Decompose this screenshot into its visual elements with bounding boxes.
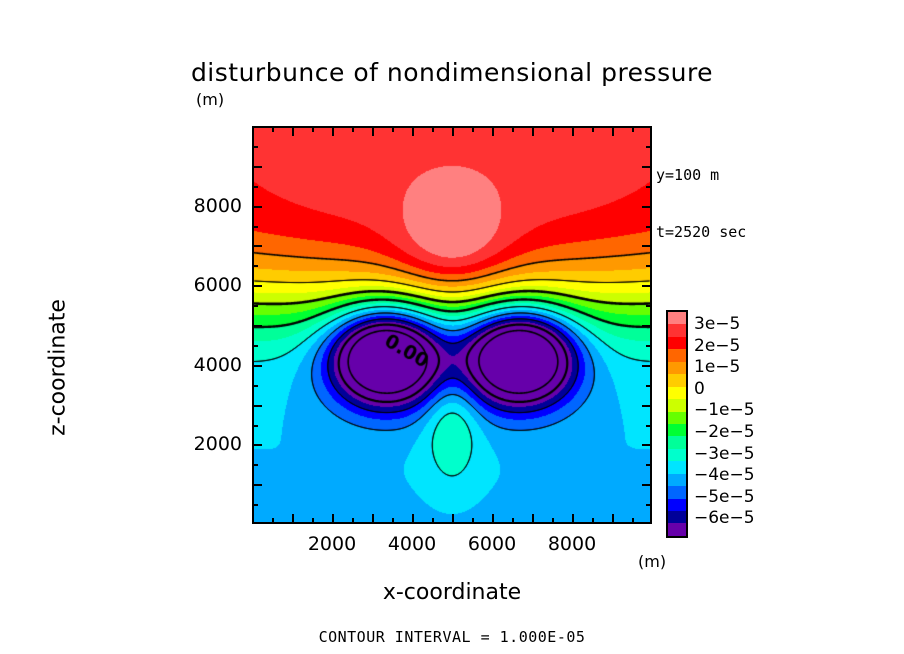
axis-tick (253, 405, 262, 407)
axis-tick (646, 265, 651, 267)
axis-tick (512, 518, 514, 523)
axis-tick (642, 484, 651, 486)
axis-tick (646, 226, 651, 228)
axis-tick (592, 518, 594, 523)
axis-tick (646, 464, 651, 466)
axis-tick (646, 504, 651, 506)
title-units-label: (m) (196, 90, 224, 109)
axis-tick (432, 127, 434, 132)
axis-tick (272, 127, 274, 132)
axis-tick (642, 405, 651, 407)
axis-tick (452, 127, 454, 136)
axis-tick (253, 325, 262, 327)
colorbar-tick-label: 3e−5 (694, 314, 740, 334)
axis-tick (642, 285, 651, 287)
axis-tick (612, 127, 614, 136)
axis-tick (253, 166, 262, 168)
axis-tick (642, 365, 651, 367)
axis-tick (646, 385, 651, 387)
axis-tick (572, 514, 574, 523)
colorbar-band (668, 486, 686, 498)
axis-tick (572, 127, 574, 136)
axis-tick (642, 444, 651, 446)
axis-tick (253, 245, 262, 247)
x-axis-label: x-coordinate (252, 580, 652, 605)
colorbar-band (668, 511, 686, 523)
axis-tick (412, 514, 414, 523)
colorbar-tick-label: −1e−5 (694, 400, 755, 420)
axis-tick (472, 127, 474, 132)
axis-tick (646, 345, 651, 347)
colorbar-band (668, 337, 686, 349)
colorbar-tick-label: −5e−5 (694, 487, 755, 507)
colorbar-band (668, 499, 686, 511)
axis-tick (253, 226, 258, 228)
axis-tick (632, 518, 634, 523)
axis-tick (552, 127, 554, 132)
axis-tick (312, 518, 314, 523)
axis-tick (312, 127, 314, 132)
axis-tick (646, 305, 651, 307)
annotation-line-t: t=2520 sec (656, 223, 746, 242)
axis-tick (253, 444, 262, 446)
axis-tick (432, 518, 434, 523)
axis-tick (253, 206, 262, 208)
axis-tick (253, 425, 258, 427)
annotation-line-y: y=100 m (656, 166, 746, 185)
y-tick-label: 8000 (160, 195, 242, 217)
colorbar-band (668, 362, 686, 374)
colorbar-band (668, 424, 686, 436)
axis-tick (352, 518, 354, 523)
y-tick-label: 4000 (160, 354, 242, 376)
plot-annotation: y=100 m t=2520 sec (656, 128, 746, 261)
axis-tick (292, 127, 294, 136)
axis-tick (492, 127, 494, 136)
axis-tick (472, 518, 474, 523)
colorbar-tick-label: 1e−5 (694, 357, 740, 377)
colorbar-band (668, 324, 686, 336)
x-tick-label: 2000 (308, 533, 356, 555)
colorbar-band (668, 399, 686, 411)
axis-tick (632, 127, 634, 132)
axis-tick (253, 365, 262, 367)
colorbar-tick-label: −4e−5 (694, 465, 755, 485)
axis-tick (392, 127, 394, 132)
axis-tick (452, 514, 454, 523)
axis-tick (253, 345, 258, 347)
contour-plot-area[interactable] (252, 126, 652, 524)
axis-tick (253, 265, 258, 267)
contour-interval-note: CONTOUR INTERVAL = 1.000E-05 (0, 628, 904, 646)
axis-tick (253, 464, 258, 466)
colorbar-band (668, 374, 686, 386)
colorbar-band (668, 387, 686, 399)
colorbar-tick-label: −6e−5 (694, 508, 755, 528)
axis-tick (253, 146, 258, 148)
colorbar-tick-label: −2e−5 (694, 422, 755, 442)
colorbar-band (668, 312, 686, 324)
axis-tick (372, 514, 374, 523)
axis-tick (512, 127, 514, 132)
axis-tick (642, 206, 651, 208)
y-tick-label: 6000 (160, 274, 242, 296)
page-title: disturbunce of nondimensional pressure (0, 58, 904, 87)
colorbar[interactable] (666, 310, 688, 538)
axis-tick (646, 146, 651, 148)
x-axis-units-label: (m) (638, 552, 666, 571)
colorbar-band (668, 449, 686, 461)
axis-tick (592, 127, 594, 132)
colorbar-band (668, 436, 686, 448)
colorbar-band (668, 349, 686, 361)
axis-tick (552, 518, 554, 523)
axis-tick (646, 186, 651, 188)
axis-tick (532, 514, 534, 523)
axis-tick (253, 484, 262, 486)
axis-tick (332, 127, 334, 136)
y-axis-label: z-coordinate (46, 268, 71, 468)
axis-tick (253, 305, 258, 307)
colorbar-band (668, 474, 686, 486)
colorbar-tick-label: 0 (694, 379, 705, 399)
axis-tick (412, 127, 414, 136)
x-tick-label: 4000 (388, 533, 436, 555)
x-tick-label: 6000 (468, 533, 516, 555)
colorbar-tick-label: −3e−5 (694, 444, 755, 464)
axis-tick (612, 514, 614, 523)
axis-tick (532, 127, 534, 136)
axis-tick (642, 245, 651, 247)
axis-tick (392, 518, 394, 523)
colorbar-band (668, 523, 686, 535)
axis-tick (646, 425, 651, 427)
colorbar-band (668, 412, 686, 424)
axis-tick (292, 514, 294, 523)
axis-tick (253, 385, 258, 387)
x-tick-label: 8000 (548, 533, 596, 555)
contour-field-canvas (254, 128, 650, 522)
axis-tick (642, 166, 651, 168)
axis-tick (352, 127, 354, 132)
axis-tick (253, 186, 258, 188)
colorbar-tick-label: 2e−5 (694, 336, 740, 356)
axis-tick (332, 514, 334, 523)
axis-tick (642, 325, 651, 327)
axis-tick (253, 504, 258, 506)
axis-tick (492, 514, 494, 523)
axis-tick (372, 127, 374, 136)
y-tick-label: 2000 (160, 433, 242, 455)
axis-tick (253, 285, 262, 287)
colorbar-band (668, 461, 686, 473)
axis-tick (272, 518, 274, 523)
